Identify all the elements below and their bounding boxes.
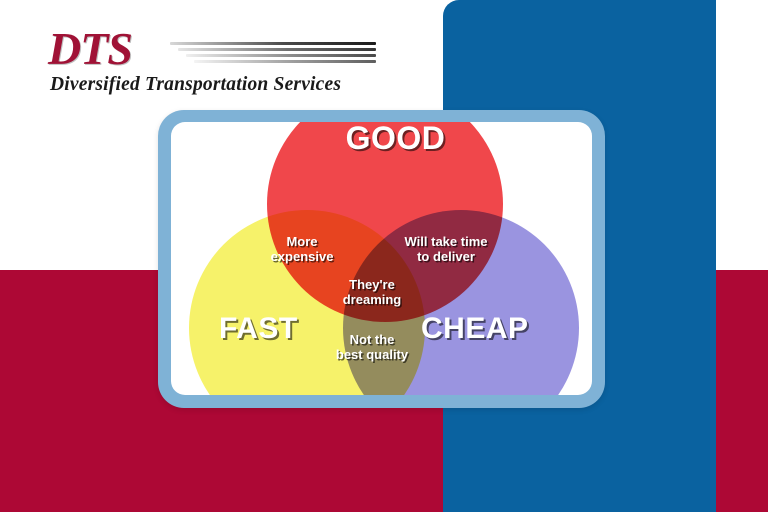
- overlap-line-2: best quality: [311, 347, 433, 362]
- overlap-line-2: to deliver: [381, 249, 511, 264]
- overlap-line-2: dreaming: [317, 292, 427, 307]
- venn-overlap-good-fast: More expensive: [247, 234, 357, 264]
- venn-label-good: GOOD: [171, 122, 592, 157]
- contact-bar: (310) 521-1200 www.dtsone.com: [0, 424, 768, 474]
- poster-canvas: DTS Diversified Transportation Services …: [0, 0, 768, 512]
- venn-diagram: GOOD FAST CHEAP More expensive Will take…: [171, 122, 592, 395]
- red-band-right: [716, 270, 768, 512]
- overlap-line-1: They're: [317, 277, 427, 292]
- logo-mark-row: DTS: [48, 28, 378, 72]
- overlap-line-1: Will take time: [381, 234, 511, 249]
- overlap-line-1: More: [247, 234, 357, 249]
- venn-label-cheap: CHEAP: [421, 312, 529, 346]
- venn-card-frame: GOOD FAST CHEAP More expensive Will take…: [158, 110, 605, 408]
- dts-logo: DTS Diversified Transportation Services: [48, 28, 378, 102]
- venn-overlap-center: They're dreaming: [317, 277, 427, 307]
- overlap-line-1: Not the: [311, 332, 433, 347]
- venn-overlap-fast-cheap: Not the best quality: [311, 332, 433, 362]
- venn-label-fast: FAST: [219, 312, 298, 346]
- overlap-line-2: expensive: [247, 249, 357, 264]
- logo-tagline: Diversified Transportation Services: [50, 74, 341, 96]
- venn-overlap-good-cheap: Will take time to deliver: [381, 234, 511, 264]
- logo-wordmark: DTS: [48, 26, 132, 72]
- venn-card-inner: GOOD FAST CHEAP More expensive Will take…: [171, 122, 592, 395]
- speed-lines-icon: [166, 42, 376, 68]
